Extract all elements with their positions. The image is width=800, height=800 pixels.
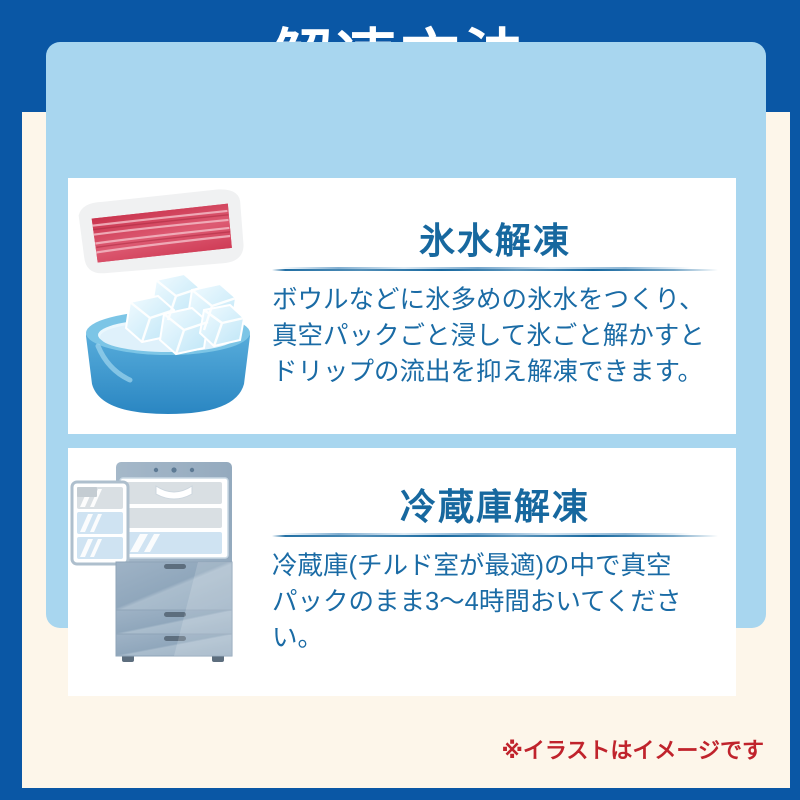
infographic-root: 解凍方法 <box>0 0 800 800</box>
illustration-disclaimer-note: ※イラストはイメージです <box>501 733 764 765</box>
card-ice-water-heading: 氷水解凍 <box>272 221 718 261</box>
card-ice-water-body: 氷水解凍 ボウルなどに氷多めの氷水をつくり、 真空パックごと浸して氷ごと解かすと… <box>268 221 736 390</box>
heading-underline-refrigerator <box>272 533 718 538</box>
card-refrigerator-text: 冷蔵庫(チルド室が最適)の中で真空 パックのまま3〜4時間おいてくださ い。 <box>272 548 718 657</box>
card-ice-water: 氷水解凍 ボウルなどに氷多めの氷水をつくり、 真空パックごと浸して氷ごと解かすと… <box>68 178 736 434</box>
refrigerator-illustration <box>68 448 268 696</box>
card-refrigerator: 冷蔵庫解凍 冷蔵庫(チルド室が最適)の中で真空 パックのまま3〜4時間おいてくだ… <box>68 448 736 696</box>
card-refrigerator-body: 冷蔵庫解凍 冷蔵庫(チルド室が最適)の中で真空 パックのまま3〜4時間おいてくだ… <box>268 487 736 656</box>
card-refrigerator-heading: 冷蔵庫解凍 <box>272 487 718 527</box>
bottom-blue-strip <box>0 788 800 800</box>
ice-water-bowl-illustration <box>68 178 268 434</box>
heading-underline-ice-water <box>272 267 718 272</box>
card-ice-water-text: ボウルなどに氷多めの氷水をつくり、 真空パックごと浸して氷ごと解かすと ドリップ… <box>272 282 718 391</box>
